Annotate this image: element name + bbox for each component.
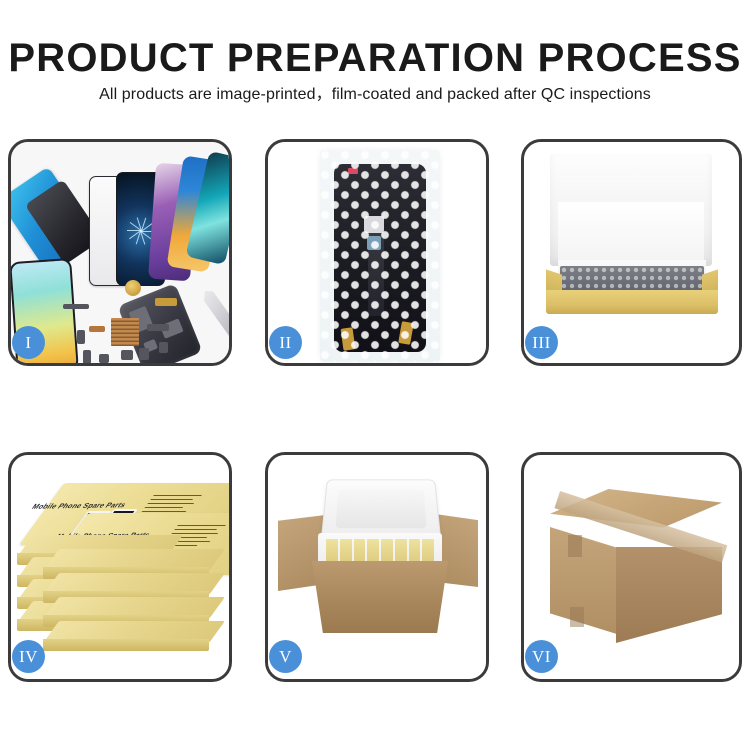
- step-badge-1[interactable]: I: [12, 326, 45, 359]
- step-badge-2[interactable]: II: [269, 326, 302, 359]
- battery-tab-icon: [159, 342, 168, 353]
- white-foam-lid: [550, 154, 712, 266]
- carton-right-face: [616, 547, 722, 643]
- spare-parts-group: [63, 278, 213, 363]
- retail-box-stack: Mobile Phone Spare Parts Mobile Phone Sp…: [17, 483, 223, 661]
- mesh-part-icon: [111, 318, 139, 346]
- button-part-icon: [121, 350, 133, 360]
- carton-body: [312, 561, 448, 633]
- sealed-carton: [550, 489, 722, 639]
- process-step-grid: Mobile Phone Spare Parts Mobile Phone Sp…: [0, 0, 750, 750]
- stacked-box: [43, 621, 209, 647]
- step-badge-5[interactable]: V: [269, 640, 302, 673]
- bubble-texture: [320, 150, 440, 362]
- stacked-box: [43, 597, 209, 623]
- step-6-image: [524, 455, 739, 679]
- small-connector-icon: [77, 330, 85, 344]
- step-badge-6[interactable]: VI: [525, 640, 558, 673]
- yellow-box-tray: [546, 266, 718, 314]
- step-5-image: [268, 455, 486, 679]
- step-1-image: [11, 142, 229, 363]
- product-preparation-page: PRODUCT PREPARATION PROCESS All products…: [0, 0, 750, 750]
- coil-part-icon: [125, 280, 141, 296]
- sim-tray-icon: [83, 350, 91, 363]
- bubble-wrap-bag: [320, 150, 440, 362]
- stacked-box: [43, 573, 209, 599]
- foam-box-lid: [321, 479, 441, 539]
- step-3-image: [524, 142, 739, 363]
- stacked-box: [43, 549, 209, 575]
- tape-patch-lower: [570, 607, 584, 627]
- copper-strip-icon: [89, 326, 105, 332]
- gold-flex-part-icon: [155, 298, 177, 306]
- screw-group-icon: [99, 354, 109, 363]
- carton-left-face: [550, 527, 620, 635]
- speaker-part-icon: [63, 304, 89, 309]
- tape-patch-upper: [568, 535, 582, 557]
- step-2-image: [268, 142, 486, 363]
- camera-part-icon: [139, 348, 149, 360]
- cable-part-icon: [147, 324, 169, 331]
- step-4-image: Mobile Phone Spare Parts Mobile Phone Sp…: [11, 455, 229, 679]
- foam-box: [318, 477, 442, 569]
- step-badge-4[interactable]: IV: [12, 640, 45, 673]
- step-badge-3[interactable]: III: [525, 326, 558, 359]
- box-front-wall: [546, 290, 718, 314]
